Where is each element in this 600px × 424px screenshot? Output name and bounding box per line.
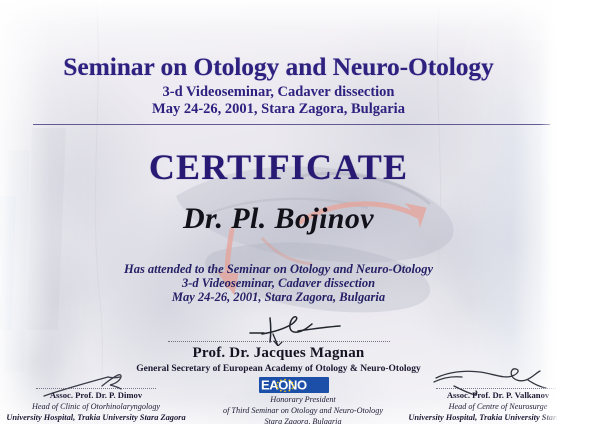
attendance-line-3: May 24-26, 2001, Stara Zagora, Bulgaria bbox=[0, 290, 557, 305]
header-divider-rule bbox=[33, 124, 550, 125]
honorary-president-location: Stara Zagora, Bulgaria bbox=[205, 416, 401, 424]
right-signature-rule bbox=[436, 388, 557, 389]
attendance-line-2: 3-d Videoseminar, Cadaver dissection bbox=[0, 276, 557, 291]
magnan-title: General Secretary of European Academy of… bbox=[0, 364, 557, 374]
eaono-logo: EAONO bbox=[259, 377, 329, 393]
honorary-president-label: Honorary President bbox=[205, 394, 401, 405]
seminar-subtitle-line-2: May 24-26, 2001, Stara Zagora, Bulgaria bbox=[0, 101, 557, 118]
honorary-president-seminar: of Third Seminar on Otology and Neuro-Ot… bbox=[205, 405, 401, 416]
signatory-block-center: Honorary President of Third Seminar on O… bbox=[205, 394, 401, 424]
magnan-signature-rule bbox=[168, 341, 390, 342]
certificate-document: Seminar on Otology and Neuro-Otology 3-d… bbox=[0, 0, 600, 424]
left-signature-rule bbox=[36, 388, 156, 389]
seminar-subtitle-line-1: 3-d Videoseminar, Cadaver dissection bbox=[0, 84, 557, 101]
certificate-heading: CERTIFICATE bbox=[0, 146, 557, 188]
recipient-name: Dr. Pl. Bojinov bbox=[0, 202, 557, 236]
scanned-certificate-area: Seminar on Otology and Neuro-Otology 3-d… bbox=[0, 0, 557, 424]
valkanov-role: Head of Centre of Neurosurge bbox=[400, 401, 557, 412]
dimov-name: Assoc. Prof. Dr. P. Dimov bbox=[2, 390, 190, 401]
attendance-line-1: Has attended to the Seminar on Otology a… bbox=[0, 262, 557, 277]
magnan-name: Prof. Dr. Jacques Magnan bbox=[0, 345, 557, 362]
valkanov-organisation: University Hospital, Trakia University S… bbox=[400, 412, 557, 423]
signatory-block-left: Assoc. Prof. Dr. P. Dimov Head of Clinic… bbox=[2, 388, 190, 423]
seminar-title: Seminar on Otology and Neuro-Otology bbox=[0, 52, 557, 82]
valkanov-name: Assoc. Prof. Dr. P. Valkanov bbox=[400, 390, 557, 401]
certificate-content: Seminar on Otology and Neuro-Otology 3-d… bbox=[0, 0, 557, 424]
dimov-organisation: University Hospital, Trakia University S… bbox=[2, 412, 190, 423]
dimov-role: Head of Clinic of Otorhinolaryngology bbox=[2, 401, 190, 412]
signatory-block-right: Assoc. Prof. Dr. P. Valkanov Head of Cen… bbox=[400, 388, 557, 423]
eaono-logo-text: EAONO bbox=[261, 378, 307, 393]
